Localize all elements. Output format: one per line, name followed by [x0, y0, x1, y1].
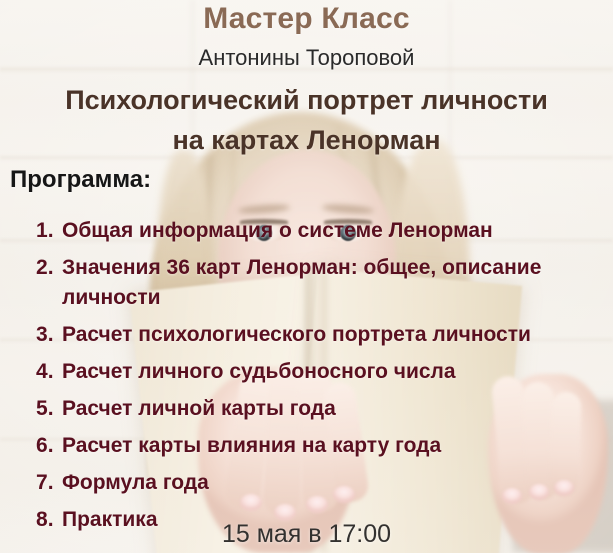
program-item: Формула года — [36, 468, 609, 498]
event-datetime: 15 мая в 17:00 — [0, 520, 613, 549]
program-item: Значения 36 карт Ленорман: общее, описан… — [36, 253, 609, 313]
program-list: Общая информация о системе ЛенорманЗначе… — [0, 216, 609, 542]
program-label: Программа: — [10, 166, 151, 194]
poster-content: Мастер Класс Антонины Тороповой Психолог… — [0, 0, 613, 553]
poster-root: Мастер Класс Антонины Тороповой Психолог… — [0, 0, 613, 553]
poster-headline: Психологический портрет личности на карт… — [10, 80, 603, 160]
program-item: Общая информация о системе Ленорман — [36, 216, 609, 246]
headline-line-2: на картах Ленорман — [10, 120, 603, 160]
headline-line-1: Психологический портрет личности — [10, 80, 603, 120]
program-item: Расчет личного судьбоносного числа — [36, 357, 609, 387]
program-item: Расчет карты влияния на карту года — [36, 431, 609, 461]
program-item: Расчет психологического портрета личност… — [36, 320, 609, 350]
presenter-name: Антонины Тороповой — [0, 45, 613, 71]
event-type-kicker: Мастер Класс — [0, 2, 613, 36]
program-item: Расчет личной карты года — [36, 394, 609, 424]
